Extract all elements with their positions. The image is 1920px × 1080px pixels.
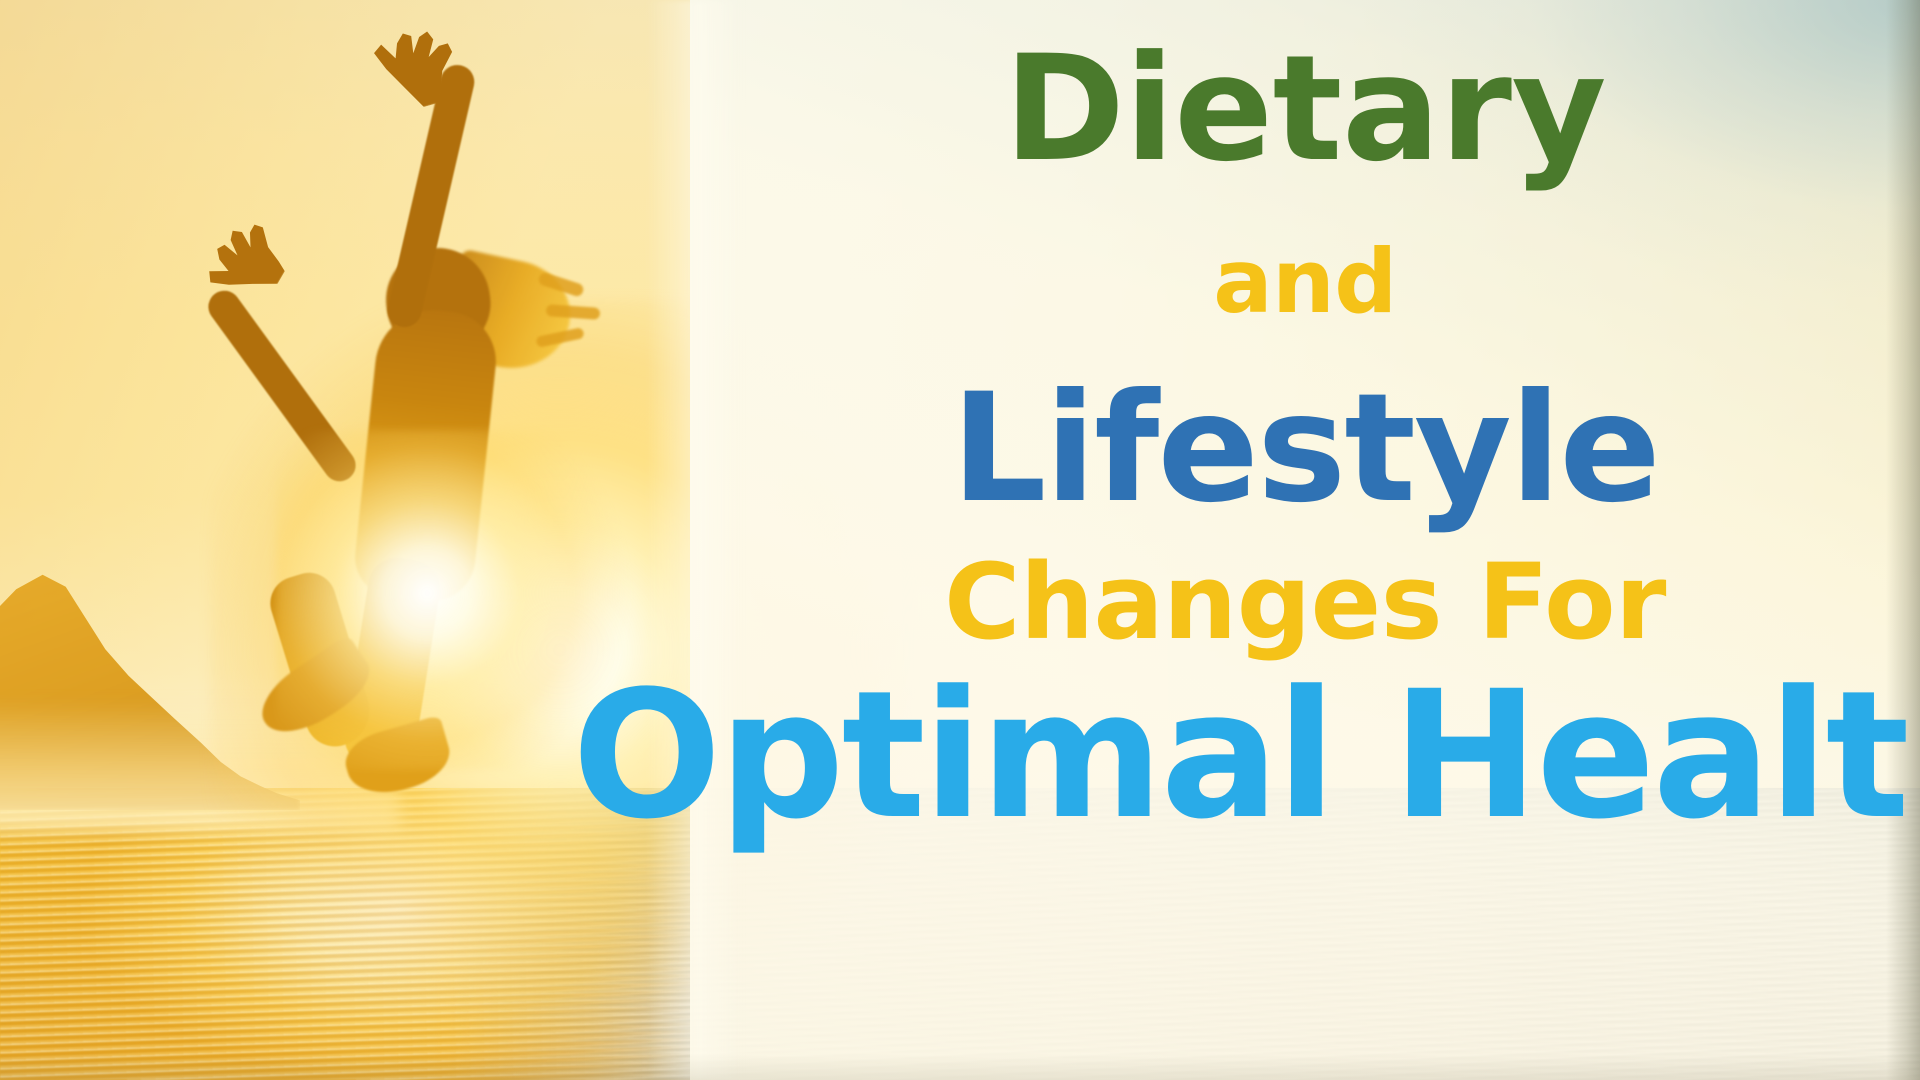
title-block: Dietary and Lifestyle Changes For Optima… <box>690 0 1920 1080</box>
title-line-changes-for: Changes For <box>690 550 1920 654</box>
banner-canvas: Dietary and Lifestyle Changes For Optima… <box>0 0 1920 1080</box>
jumping-figure-silhouette <box>170 10 590 870</box>
title-line-lifestyle: Lifestyle <box>690 374 1920 524</box>
title-line-optimal-health: Optimal Health <box>572 668 1802 844</box>
title-line-dietary: Dietary <box>690 36 1920 182</box>
title-line-and: and <box>690 238 1920 326</box>
